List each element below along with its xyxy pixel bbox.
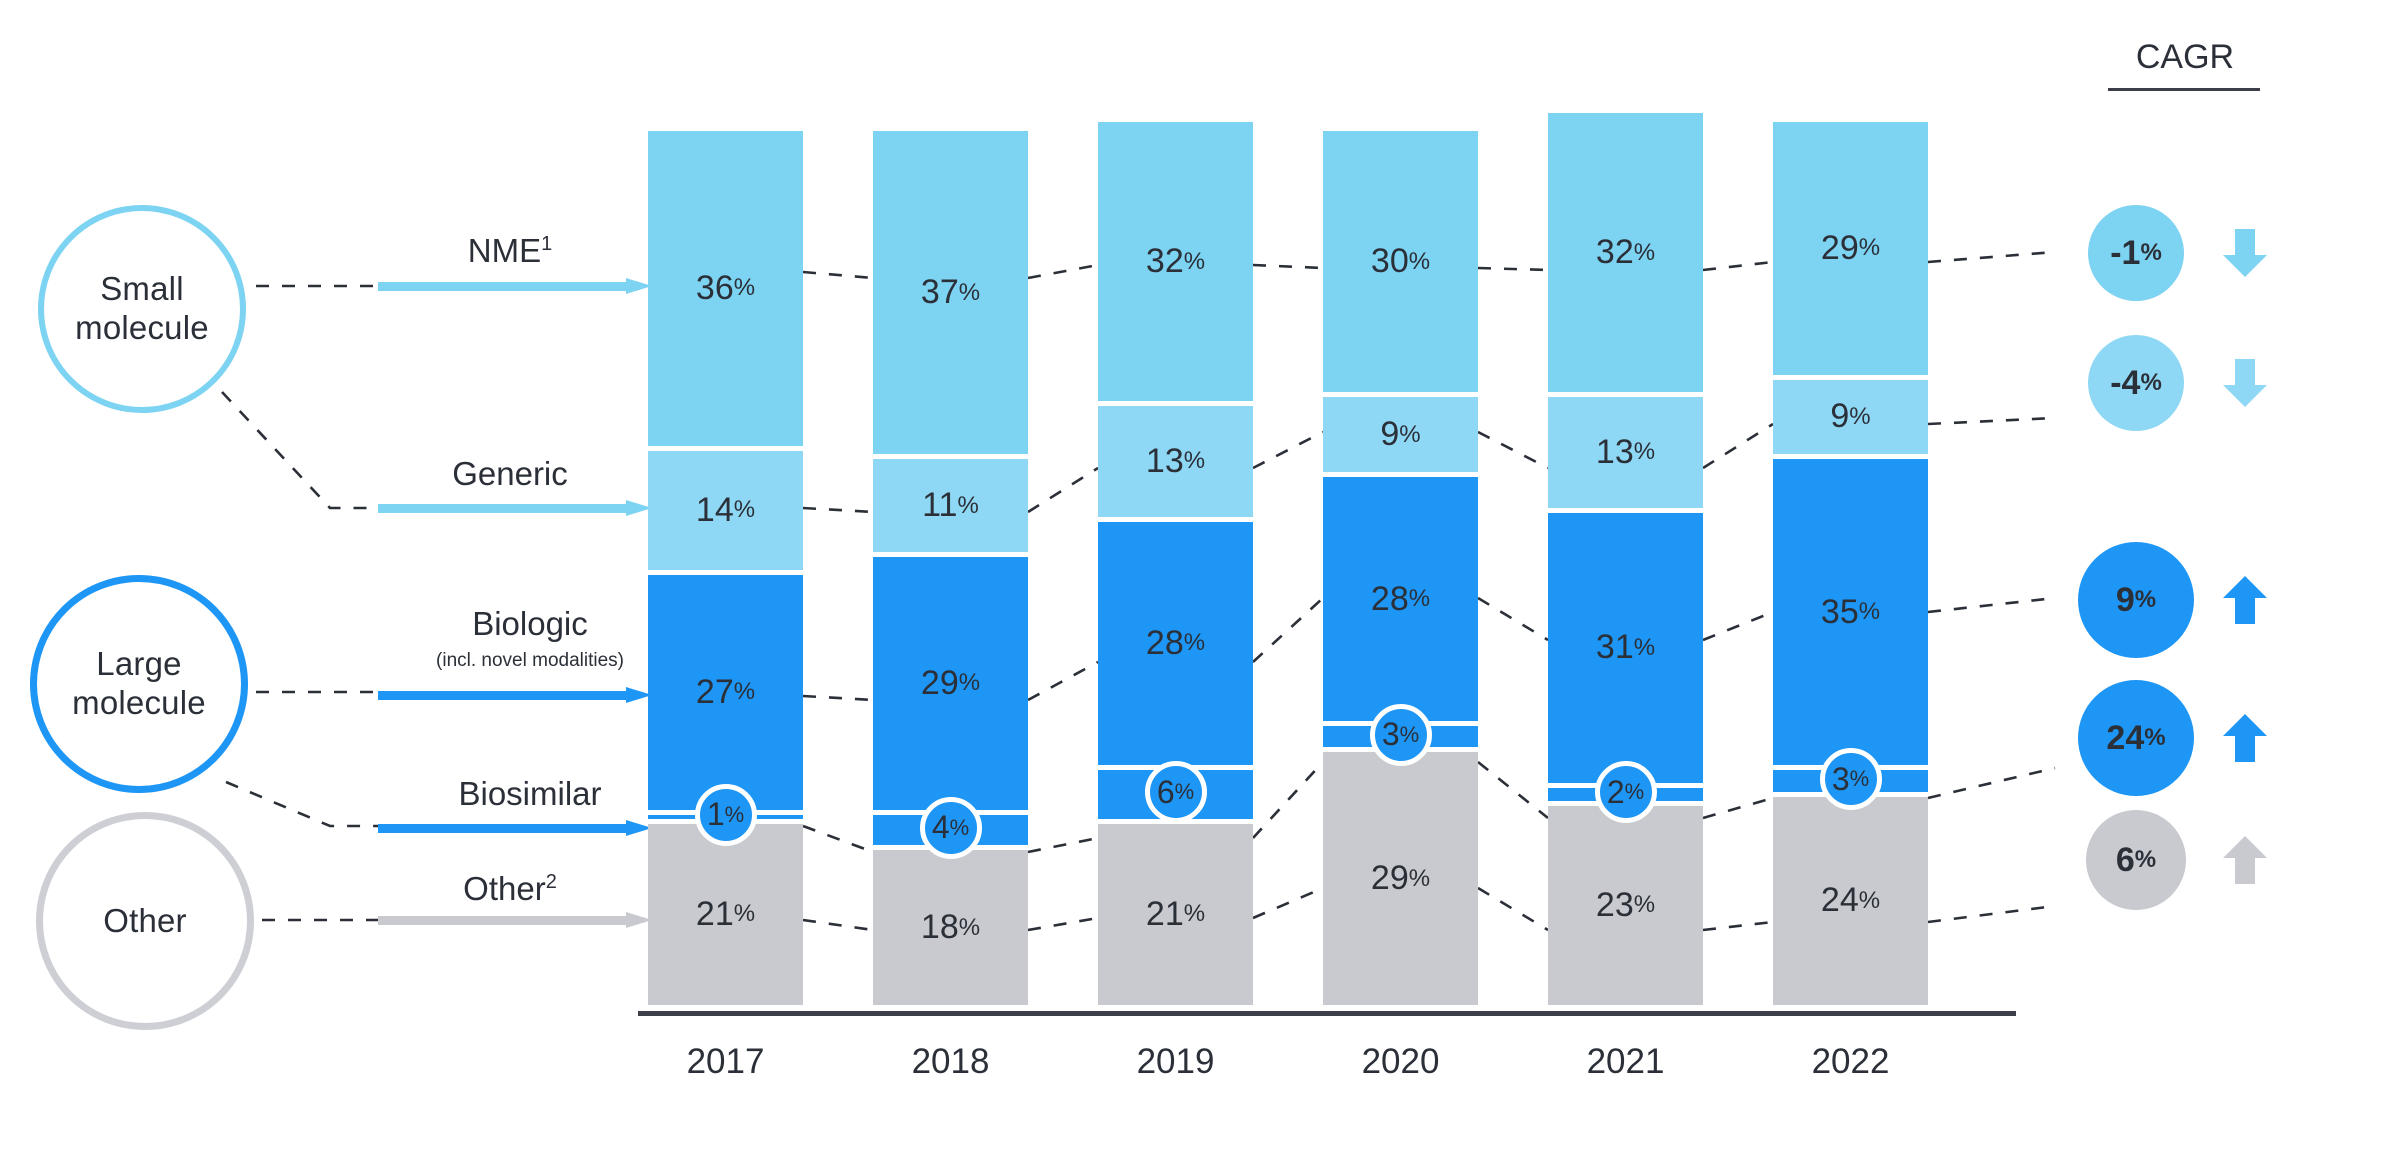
bar-segment-generic-2021[interactable]: 13%	[1548, 397, 1703, 507]
bar-column-2017[interactable]: 21%1%27%14%36%	[648, 0, 803, 1163]
bar-segment-generic-2018[interactable]: 11%	[873, 459, 1028, 552]
x-axis-line	[638, 1011, 2016, 1016]
bar-value-bubble-biosimilar-2017: 1%	[695, 784, 757, 846]
flow-sublabel-biologic: (incl. novel modalities)	[380, 650, 680, 672]
chart-canvas: Small molecule Large molecule Other NME1…	[0, 0, 2400, 1163]
bar-segment-other-2017[interactable]: 21%	[648, 824, 803, 1005]
bar-column-2020[interactable]: 29%3%28%9%30%	[1323, 0, 1478, 1163]
cagr-trend-down-icon-generic	[2222, 357, 2268, 409]
bar-segment-biologic-2020[interactable]: 28%	[1323, 477, 1478, 721]
category-circle-other[interactable]: Other	[36, 812, 254, 1030]
flow-label-nme: NME1	[380, 232, 640, 270]
bar-segment-other-2022[interactable]: 24%	[1773, 797, 1928, 1005]
flow-arrow-biosimilar	[378, 820, 652, 836]
flow-arrow-generic	[378, 500, 652, 516]
bar-column-2018[interactable]: 18%4%29%11%37%	[873, 0, 1028, 1163]
bar-segment-nme-2019[interactable]: 32%	[1098, 122, 1253, 401]
bar-column-2021[interactable]: 23%2%31%13%32%	[1548, 0, 1703, 1163]
category-circle-large-molecule[interactable]: Large molecule	[30, 575, 248, 793]
bar-segment-biologic-2018[interactable]: 29%	[873, 557, 1028, 810]
category-circle-small-molecule[interactable]: Small molecule	[38, 205, 246, 413]
x-axis-label-2022: 2022	[1773, 1042, 1928, 1082]
x-axis-label-2020: 2020	[1323, 1042, 1478, 1082]
cagr-header: CAGR	[2110, 38, 2260, 77]
bar-segment-other-2018[interactable]: 18%	[873, 850, 1028, 1005]
flow-label-biosimilar: Biosimilar	[380, 775, 680, 813]
bar-segment-biologic-2019[interactable]: 28%	[1098, 522, 1253, 766]
bar-column-2022[interactable]: 24%3%35%9%29%	[1773, 0, 1928, 1163]
bar-segment-nme-2022[interactable]: 29%	[1773, 122, 1928, 375]
flow-arrow-other	[378, 912, 652, 928]
bar-segment-biologic-2022[interactable]: 35%	[1773, 459, 1928, 765]
cagr-trend-down-icon-nme	[2222, 227, 2268, 279]
x-axis-label-2018: 2018	[873, 1042, 1028, 1082]
bar-segment-nme-2021[interactable]: 32%	[1548, 113, 1703, 392]
bar-segment-generic-2017[interactable]: 14%	[648, 451, 803, 570]
bar-segment-generic-2020[interactable]: 9%	[1323, 397, 1478, 472]
flow-arrow-nme	[378, 278, 652, 294]
cagr-badge-nme[interactable]: -1%	[2088, 205, 2184, 301]
x-axis-label-2019: 2019	[1098, 1042, 1253, 1082]
x-axis-label-2021: 2021	[1548, 1042, 1703, 1082]
bar-segment-biologic-2021[interactable]: 31%	[1548, 513, 1703, 783]
bar-value-bubble-biosimilar-2022: 3%	[1820, 748, 1882, 810]
bar-column-2019[interactable]: 21%6%28%13%32%	[1098, 0, 1253, 1163]
cagr-trend-up-icon-other	[2222, 834, 2268, 886]
cagr-header-rule	[2108, 88, 2260, 91]
flow-label-other: Other2	[380, 870, 640, 908]
bar-segment-generic-2019[interactable]: 13%	[1098, 406, 1253, 516]
cagr-badge-biologic[interactable]: 9%	[2078, 542, 2194, 658]
cagr-trend-up-icon-biosimilar	[2222, 712, 2268, 764]
bar-value-bubble-biosimilar-2019: 6%	[1145, 761, 1207, 823]
bar-segment-nme-2017[interactable]: 36%	[648, 131, 803, 446]
bar-segment-biologic-2017[interactable]: 27%	[648, 575, 803, 810]
bar-value-bubble-biosimilar-2020: 3%	[1370, 704, 1432, 766]
bar-value-bubble-biosimilar-2018: 4%	[920, 797, 982, 859]
bar-segment-nme-2020[interactable]: 30%	[1323, 131, 1478, 392]
bar-segment-nme-2018[interactable]: 37%	[873, 131, 1028, 455]
bar-value-bubble-biosimilar-2021: 2%	[1595, 761, 1657, 823]
bar-segment-other-2021[interactable]: 23%	[1548, 806, 1703, 1005]
cagr-badge-other[interactable]: 6%	[2086, 810, 2186, 910]
x-axis-label-2017: 2017	[648, 1042, 803, 1082]
flow-label-biologic: Biologic	[380, 605, 680, 643]
bar-segment-generic-2022[interactable]: 9%	[1773, 380, 1928, 455]
bar-segment-other-2019[interactable]: 21%	[1098, 824, 1253, 1005]
cagr-badge-biosimilar[interactable]: 24%	[2078, 680, 2194, 796]
cagr-badge-generic[interactable]: -4%	[2088, 335, 2184, 431]
flow-arrow-biologic	[378, 687, 652, 703]
flow-label-generic: Generic	[380, 455, 640, 493]
bar-segment-other-2020[interactable]: 29%	[1323, 752, 1478, 1005]
cagr-trend-up-icon-biologic	[2222, 574, 2268, 626]
